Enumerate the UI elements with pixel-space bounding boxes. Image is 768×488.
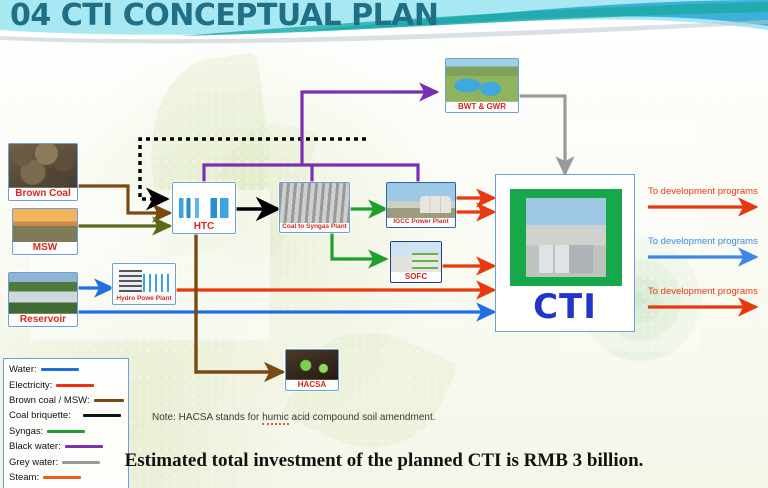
- legend-label-syngas: Syngas:: [9, 426, 43, 437]
- seedling-soil-photo: [286, 350, 338, 380]
- output-label-1: To development programs: [648, 186, 758, 197]
- legend-item-electricity: Electricity:: [9, 377, 124, 392]
- legend-swatch-steam: [43, 476, 81, 479]
- node-cti[interactable]: CTI: [495, 174, 635, 332]
- cti-green-panel: [510, 189, 622, 286]
- legend-swatch-syngas: [47, 430, 85, 433]
- output-label-3: To development programs: [648, 286, 758, 297]
- node-hydro-label: Hydro Powe Plant: [113, 295, 175, 304]
- legend-item-steam: Steam:: [9, 470, 124, 485]
- node-coal-to-syngas-label: Coal to Syngas Plant: [280, 223, 349, 232]
- legend-label-steam: Steam:: [9, 472, 39, 483]
- node-hydro-power-plant[interactable]: Hydro Powe Plant: [112, 263, 176, 305]
- node-msw[interactable]: MSW: [12, 208, 78, 255]
- node-hacsa-label: HACSA: [286, 380, 338, 390]
- page-title: 04 CTI CONCEPTUAL PLAN: [10, 0, 439, 33]
- node-brown-coal-label: Brown Coal: [9, 188, 77, 201]
- water-treatment-photo: [446, 59, 518, 102]
- coal-pile-photo: [9, 144, 77, 188]
- legend-swatch-water: [41, 368, 79, 371]
- hydro-plant-icon: [113, 264, 175, 295]
- output-label-2: To development programs: [648, 236, 758, 247]
- bottom-statement: Estimated total investment of the planne…: [0, 450, 768, 472]
- legend-item-brown-coal-msw: Brown coal / MSW:: [9, 393, 124, 408]
- hacsa-note-underlined: humic: [262, 412, 289, 425]
- industrial-complex-photo: [526, 198, 607, 278]
- legend-item-water: Water:: [9, 362, 124, 377]
- node-hacsa[interactable]: HACSA: [285, 349, 339, 391]
- node-coal-to-syngas-plant[interactable]: Coal to Syngas Plant: [279, 182, 350, 233]
- node-htc-label: HTC: [173, 221, 235, 234]
- fuel-cell-photo: [391, 242, 441, 272]
- legend-swatch-black-water: [65, 445, 103, 448]
- node-msw-label: MSW: [13, 242, 77, 255]
- legend-swatch-electricity: [56, 384, 94, 387]
- node-reservoir-label: Reservoir: [9, 314, 77, 327]
- slide-canvas: 04 CTI CONCEPTUAL PLAN: [0, 0, 768, 488]
- landfill-photo: [13, 209, 77, 242]
- node-bwt-gwr[interactable]: BWT & GWR: [445, 58, 519, 113]
- power-plant-photo: [387, 183, 455, 218]
- legend-swatch-brown-coal-msw: [94, 399, 124, 402]
- legend-item-syngas: Syngas:: [9, 424, 124, 439]
- node-igcc-power-plant[interactable]: IGCC Power Plant: [386, 182, 456, 228]
- legend-label-coal-briquette: Coal briquette:: [9, 410, 71, 421]
- legend-item-coal-briquette: Coal briquette:: [9, 408, 124, 423]
- htc-chart-icon: [173, 183, 235, 221]
- node-bwt-gwr-label: BWT & GWR: [446, 102, 518, 112]
- slide-header: 04 CTI CONCEPTUAL PLAN: [0, 0, 768, 44]
- legend-label-water: Water:: [9, 364, 37, 375]
- node-brown-coal[interactable]: Brown Coal: [8, 143, 78, 201]
- node-cti-label: CTI: [496, 287, 634, 327]
- node-sofc[interactable]: SOFC: [390, 241, 442, 283]
- node-igcc-label: IGCC Power Plant: [387, 218, 455, 227]
- node-sofc-label: SOFC: [391, 272, 441, 282]
- hacsa-note-prefix: Note: HACSA stands for: [152, 412, 262, 423]
- hacsa-note-suffix: acid compound soil amendment.: [289, 412, 436, 423]
- legend-swatch-coal-briquette: [83, 414, 121, 417]
- node-reservoir[interactable]: Reservoir: [8, 272, 78, 327]
- dam-reservoir-photo: [9, 273, 77, 314]
- legend-label-electricity: Electricity:: [9, 380, 52, 391]
- gasifier-photo: [280, 183, 349, 223]
- hacsa-note: Note: HACSA stands for humic acid compou…: [152, 412, 436, 423]
- node-htc[interactable]: HTC: [172, 182, 236, 234]
- legend-label-brown-coal-msw: Brown coal / MSW:: [9, 395, 90, 406]
